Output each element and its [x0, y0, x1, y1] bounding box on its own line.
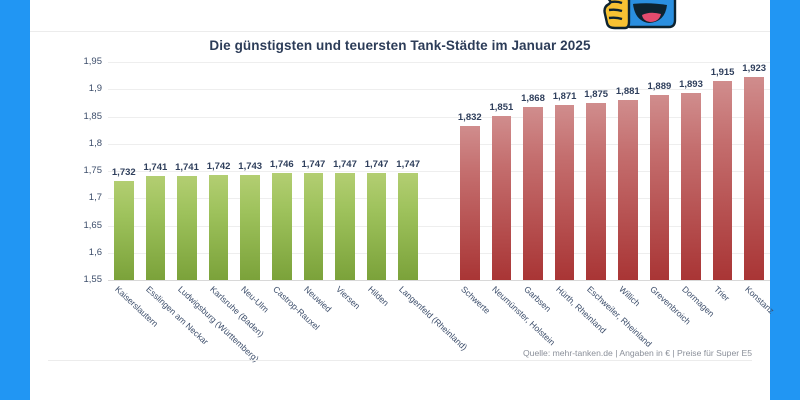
left-accent-bar [0, 0, 30, 400]
bar-column[interactable]: 1,747 [398, 173, 418, 280]
bar[interactable] [460, 126, 480, 280]
bar-column[interactable]: 1,747 [335, 173, 355, 280]
y-axis-tick-label: 1,9 [60, 83, 102, 94]
x-axis-category-label: Neu-Ulm [239, 284, 271, 314]
bar[interactable] [744, 77, 764, 280]
bar-column[interactable]: 1,875 [586, 103, 606, 280]
bar-column[interactable]: 1,741 [146, 176, 166, 280]
x-axis-category-label: Trier [712, 284, 732, 303]
chart-title: Die günstigsten und teuersten Tank-Städt… [30, 38, 770, 53]
bar-column[interactable]: 1,832 [460, 126, 480, 280]
bar-value-label: 1,747 [384, 159, 432, 170]
y-axis-tick-label: 1,65 [60, 220, 102, 231]
x-axis-category-label: Konstanz [743, 284, 776, 316]
bar-column[interactable]: 1,881 [618, 100, 638, 280]
bar-column[interactable]: 1,851 [492, 116, 512, 280]
bar[interactable] [523, 107, 543, 280]
x-axis-category-label: Garbsen [522, 284, 553, 314]
bar-column[interactable]: 1,923 [744, 77, 764, 280]
bar[interactable] [492, 116, 512, 280]
y-axis-tick-label: 1,7 [60, 192, 102, 203]
bar-column[interactable]: 1,889 [650, 95, 670, 280]
x-axis-category-label: Karlsruhe (Baden) [208, 284, 266, 339]
x-axis-category-label: Langenfeld (Rheinland) [397, 284, 469, 352]
bar[interactable] [335, 173, 355, 280]
bar[interactable] [177, 176, 197, 280]
bar-column[interactable]: 1,868 [523, 107, 543, 280]
bar-group: 1,7321,7411,7411,7421,7431,7461,7471,747… [108, 62, 770, 280]
footer-divider [48, 360, 752, 361]
bar[interactable] [618, 100, 638, 280]
bar[interactable] [114, 181, 134, 280]
source-note: Quelle: mehr-tanken.de | Angaben in € | … [523, 348, 752, 358]
bar[interactable] [555, 105, 575, 280]
bar-column[interactable]: 1,893 [681, 93, 701, 280]
bar-value-label: 1,893 [667, 79, 715, 90]
bar[interactable] [240, 175, 260, 280]
fuel-can-thumbs-up-mascot-icon [595, 0, 685, 36]
y-axis-tick-label: 1,75 [60, 165, 102, 176]
bar-column[interactable]: 1,732 [114, 181, 134, 280]
x-axis-label-group: KaiserslauternEsslingen am NeckarLudwigs… [108, 284, 788, 358]
bar[interactable] [209, 175, 229, 280]
y-axis-tick-label: 1,95 [60, 56, 102, 67]
bar-value-label: 1,923 [730, 63, 778, 74]
x-axis-category-label: Hilden [366, 284, 391, 308]
bar-value-label: 1,832 [446, 112, 494, 123]
plot-area: 1,951,91,851,81,751,71,651,61,55 1,7321,… [60, 62, 770, 284]
bar[interactable] [713, 81, 733, 280]
x-axis-category-label: Schwerte [459, 284, 492, 316]
bar[interactable] [650, 95, 670, 280]
y-axis-tick-label: 1,8 [60, 138, 102, 149]
bar-column[interactable]: 1,747 [304, 173, 324, 280]
bar[interactable] [367, 173, 387, 280]
x-axis-category-label: Neuwied [303, 284, 334, 314]
bar-column[interactable]: 1,746 [272, 173, 292, 280]
bar[interactable] [272, 173, 292, 280]
bar-column[interactable]: 1,743 [240, 175, 260, 280]
x-axis-category-label: Willich [617, 284, 642, 308]
bar[interactable] [398, 173, 418, 280]
chart-card: Die günstigsten und teuersten Tank-Städt… [30, 0, 770, 400]
bar[interactable] [681, 93, 701, 280]
y-axis-tick-label: 1,6 [60, 247, 102, 258]
bar-column[interactable]: 1,742 [209, 175, 229, 280]
bar-column[interactable]: 1,871 [555, 105, 575, 280]
y-axis-tick-label: 1,85 [60, 111, 102, 122]
y-axis-tick-label: 1,55 [60, 274, 102, 285]
bar[interactable] [586, 103, 606, 280]
bar-column[interactable]: 1,747 [367, 173, 387, 280]
bar[interactable] [304, 173, 324, 280]
screenshot-root: Die günstigsten und teuersten Tank-Städt… [0, 0, 800, 400]
bar[interactable] [146, 176, 166, 280]
x-axis-baseline [108, 280, 770, 281]
x-axis-category-label: Viersen [334, 284, 362, 311]
bar-column[interactable]: 1,915 [713, 81, 733, 280]
bar-column[interactable]: 1,741 [177, 176, 197, 280]
